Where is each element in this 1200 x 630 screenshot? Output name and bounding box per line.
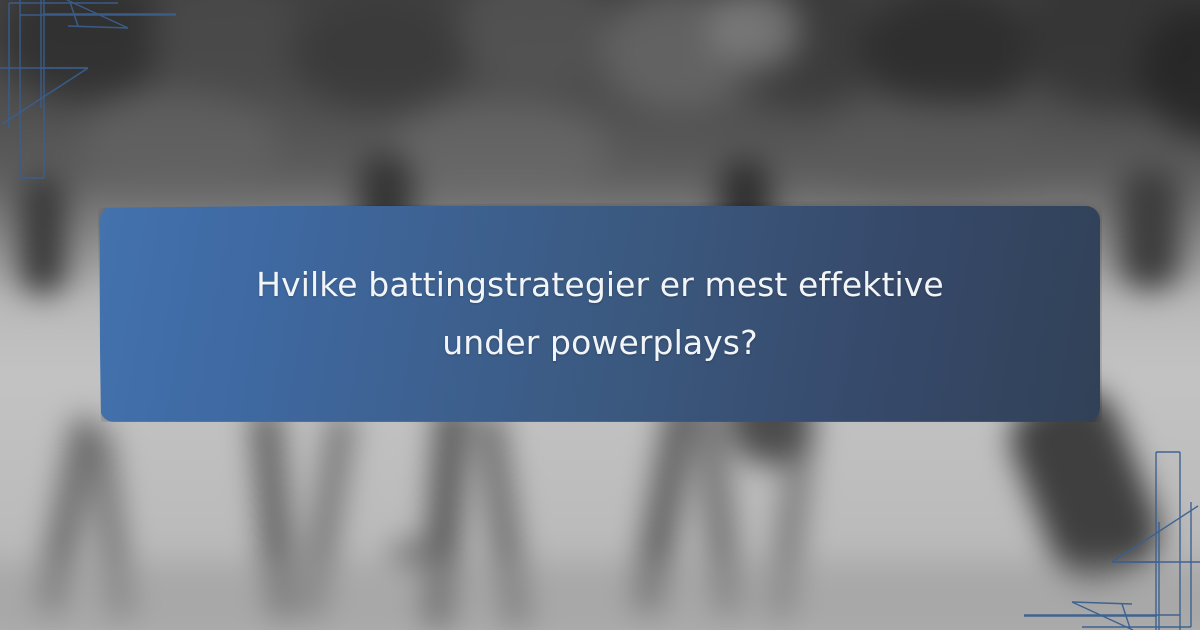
crowd-blob	[820, 100, 1040, 200]
question-card-shape: Hvilke battingstrategier er mest effekti…	[98, 198, 1102, 430]
question-card-surface: Hvilke battingstrategier er mest effekti…	[100, 206, 1100, 422]
crowd-blob	[80, 90, 280, 190]
question-line-2: under powerplays?	[442, 314, 757, 372]
social-card-canvas: Hvilke battingstrategier er mest effekti…	[0, 0, 1200, 630]
question-text: Hvilke battingstrategier er mest effekti…	[100, 206, 1100, 422]
crowd-blob	[390, 100, 610, 200]
crowd-blob	[290, 0, 470, 110]
pitch-shadow	[0, 560, 1200, 630]
question-card: Hvilke battingstrategier er mest effekti…	[98, 198, 1102, 430]
player-silhouette	[20, 175, 66, 295]
player-silhouette	[1120, 170, 1180, 290]
question-line-1: Hvilke battingstrategier er mest effekti…	[256, 256, 944, 314]
